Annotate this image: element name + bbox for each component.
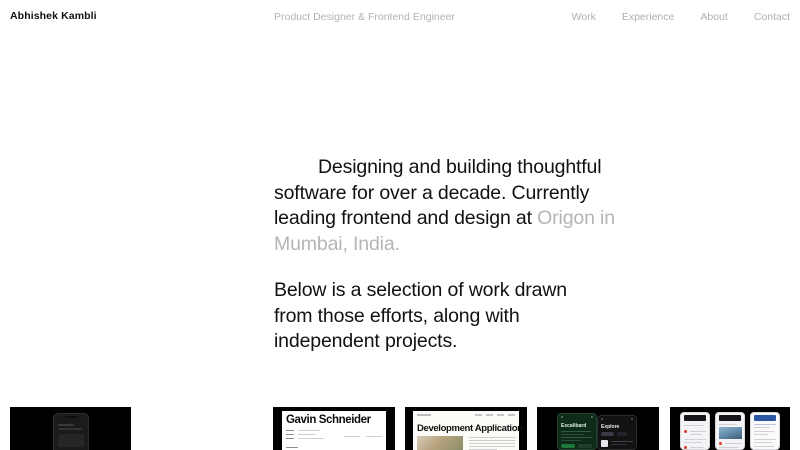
brand-name[interactable]: Abhishek Kambli (10, 10, 97, 22)
work-card-green-dark-app[interactable]: Excalibard Explore (537, 407, 659, 450)
work-card-gavin-schneider[interactable]: Gavin Schneider (273, 407, 395, 450)
nav-link-about[interactable]: About (700, 11, 727, 23)
mock-topbar (417, 414, 515, 417)
intro-paragraph-one: Designing and building thoughtful softwa… (274, 155, 646, 257)
doc-title-development-application: Development Application (417, 423, 523, 434)
phone-mockup-light-3 (750, 412, 780, 450)
site-tagline: Product Designer & Frontend Engineer (274, 11, 455, 23)
mock-photo (417, 436, 463, 450)
work-card-dark-mobile-app[interactable] (10, 407, 131, 450)
phone-label-explore: Explore (601, 424, 619, 430)
work-card-development-application[interactable]: Development Application (405, 407, 527, 450)
mock-nav-items (475, 414, 515, 416)
intro-paragraph-two: Below is a selection of work drawn from … (274, 278, 604, 355)
phone-label-excalibard: Excalibard (561, 423, 586, 429)
phone-mockup-dark-explore: Explore (597, 415, 637, 450)
work-grid: Gavin Schneider Development Application (0, 407, 800, 450)
nav-link-experience[interactable]: Experience (622, 11, 675, 23)
intro-section: Designing and building thoughtful softwa… (274, 155, 646, 355)
phone-mockup-light-2 (715, 412, 745, 450)
phone-notch-icon (65, 416, 77, 418)
site-header: Abhishek Kambli Product Designer & Front… (0, 0, 800, 34)
work-card-light-mobile-feeds[interactable] (670, 407, 790, 450)
primary-nav: Work Experience About Contact (572, 11, 790, 23)
document-mockup-light: Gavin Schneider (282, 411, 386, 450)
document-mockup-development-application: Development Application (413, 411, 519, 450)
phone-mockup-light-1 (680, 412, 710, 450)
phone-mockup-dark (53, 413, 89, 450)
mock-text-column (469, 437, 515, 450)
doc-title-gavin-schneider: Gavin Schneider (286, 414, 371, 426)
phone-mockup-green: Excalibard (557, 413, 597, 450)
nav-link-contact[interactable]: Contact (754, 11, 790, 23)
nav-link-work[interactable]: Work (572, 11, 596, 23)
